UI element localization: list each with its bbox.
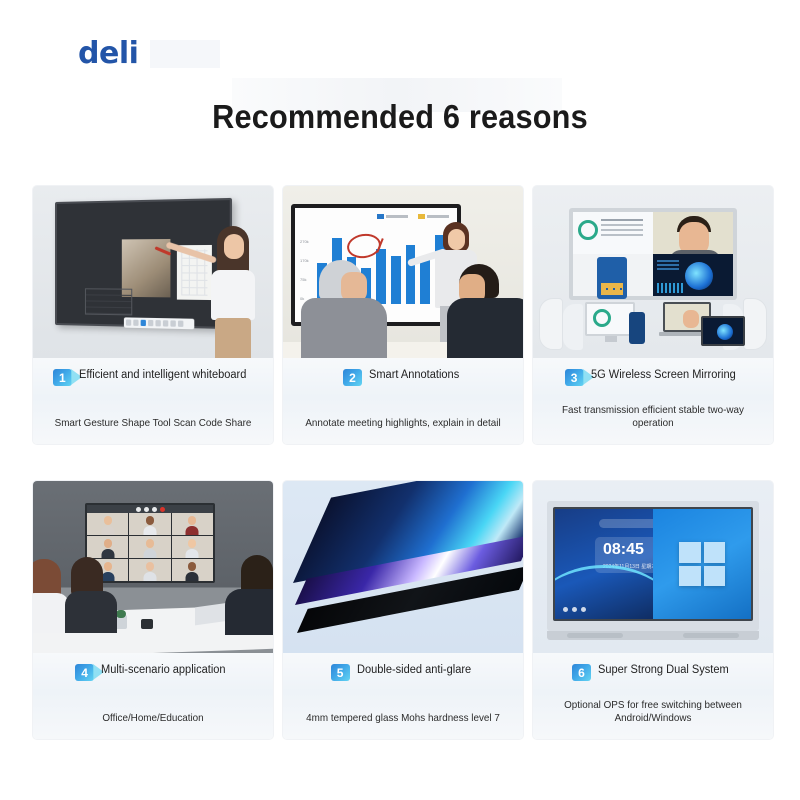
brand-background-wash xyxy=(150,40,220,68)
page-title: Recommended 6 reasons xyxy=(28,98,772,136)
card-4-subline: Office/Home/Education xyxy=(40,712,266,725)
card-3-headline: 5G Wireless Screen Mirroring xyxy=(591,368,736,383)
card-4-headline: Multi-scenario application xyxy=(101,663,226,678)
card-5-subline: 4mm tempered glass Mohs hardness level 7 xyxy=(290,712,516,725)
card-1-subline: Smart Gesture Shape Tool Scan Code Share xyxy=(40,417,266,430)
card-1-image xyxy=(33,186,273,358)
card-3-caption: 3 5G Wireless Screen Mirroring Fast tran… xyxy=(533,358,773,444)
card-3-image xyxy=(533,186,773,358)
card-2-headline: Smart Annotations xyxy=(369,368,459,383)
card-6-headline: Super Strong Dual System xyxy=(598,663,729,678)
card-6-subline: Optional OPS for free switching between … xyxy=(540,699,766,725)
card-6-number-badge: 6 xyxy=(572,664,591,681)
feature-card-6[interactable]: 08:45 2024年11月13日 星期三 xyxy=(533,481,773,739)
card-2-image: 270k170k75k0k xyxy=(283,186,523,358)
card-4-caption: 4 Multi-scenario application Office/Home… xyxy=(33,653,273,739)
card-5-headline: Double-sided anti-glare xyxy=(357,663,471,678)
card-2-number-badge: 2 xyxy=(343,369,362,386)
feature-card-1[interactable]: 1 Efficient and intelligent whiteboard S… xyxy=(33,186,273,444)
feature-card-4[interactable]: 4 Multi-scenario application Office/Home… xyxy=(33,481,273,739)
windows-logo-icon xyxy=(679,542,725,586)
feature-card-2[interactable]: 270k170k75k0k xyxy=(283,186,523,444)
card-6-caption: 6 Super Strong Dual System Optional OPS … xyxy=(533,653,773,739)
card-4-number-badge: 4 xyxy=(75,664,94,681)
card-6-image: 08:45 2024年11月13日 星期三 xyxy=(533,481,773,653)
card-1-number-badge: 1 xyxy=(53,369,72,386)
card-6-clock: 08:45 xyxy=(603,541,644,559)
feature-card-3[interactable]: 3 5G Wireless Screen Mirroring Fast tran… xyxy=(533,186,773,444)
card-5-caption: 5 Double-sided anti-glare 4mm tempered g… xyxy=(283,653,523,739)
card-5-image xyxy=(283,481,523,653)
card-3-subline: Fast transmission efficient stable two-w… xyxy=(540,404,766,430)
card-1-caption: 1 Efficient and intelligent whiteboard S… xyxy=(33,358,273,444)
poster-page: deli Recommended 6 reasons xyxy=(0,0,800,800)
brand-logo: deli xyxy=(78,36,138,71)
card-3-number-badge: 3 xyxy=(565,369,584,386)
card-5-number-badge: 5 xyxy=(331,664,350,681)
feature-card-5[interactable]: 5 Double-sided anti-glare 4mm tempered g… xyxy=(283,481,523,739)
card-4-image xyxy=(33,481,273,653)
card-2-subline: Annotate meeting highlights, explain in … xyxy=(290,417,516,430)
feature-card-grid: 1 Efficient and intelligent whiteboard S… xyxy=(33,186,773,739)
card-1-headline: Efficient and intelligent whiteboard xyxy=(79,368,246,383)
card-2-caption: 2 Smart Annotations Annotate meeting hig… xyxy=(283,358,523,444)
